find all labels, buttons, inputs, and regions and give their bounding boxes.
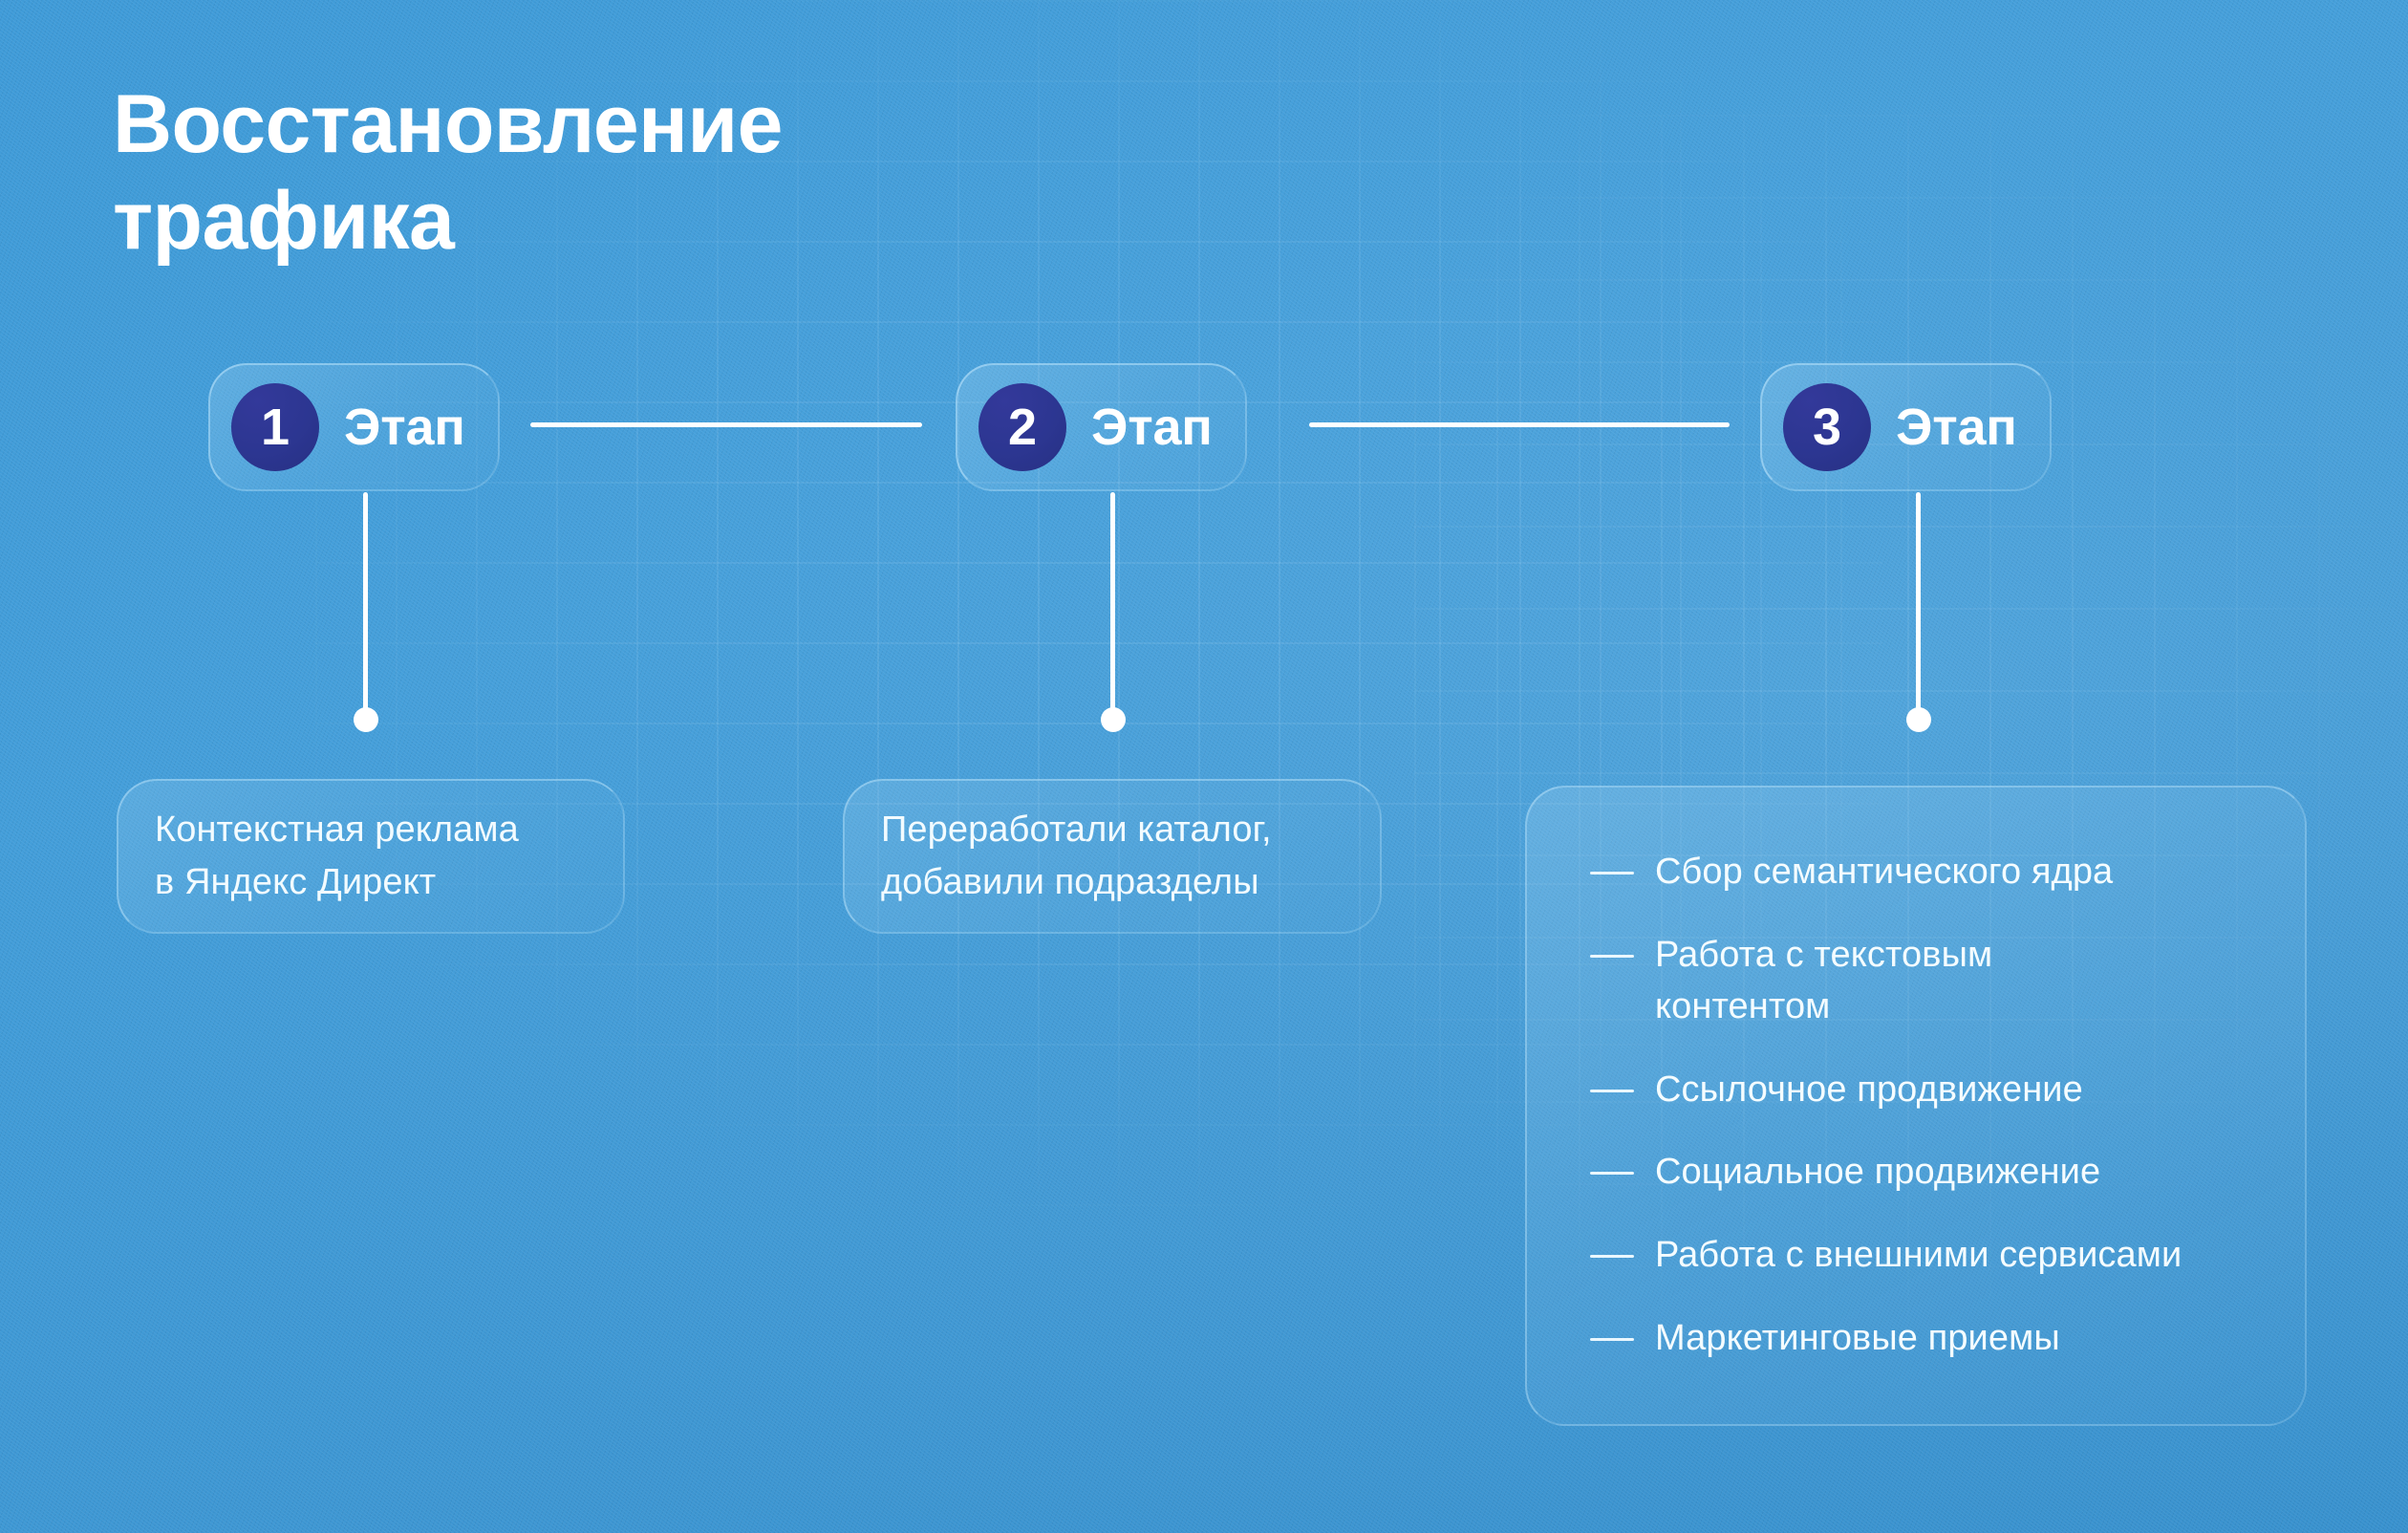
stage-card-2: Переработали каталог, добавили подраздел…: [843, 779, 1382, 934]
list-item: Социальное продвижение: [1590, 1147, 2267, 1198]
dash-bullet-icon: [1590, 955, 1634, 958]
dash-bullet-icon: [1590, 1338, 1634, 1341]
stage-number-2: 2: [978, 383, 1066, 471]
connector-dot-1: [354, 707, 378, 732]
connector-stage2-down: [1110, 492, 1115, 712]
stage-badge-3[interactable]: 3 Этап: [1760, 363, 2052, 491]
list-item: Работа с текстовым контентом: [1590, 930, 2267, 1033]
stage-card-1: Контекстная реклама в Яндекс Директ: [117, 779, 625, 934]
stage-card-2-text: Переработали каталог, добавили подраздел…: [845, 804, 1308, 909]
connector-stage1-stage2: [530, 422, 922, 427]
dash-bullet-icon: [1590, 872, 1634, 874]
dash-bullet-icon: [1590, 1090, 1634, 1092]
connector-stage1-down: [363, 492, 368, 712]
list-item-label: Работа с текстовым контентом: [1655, 930, 1992, 1033]
stage-badge-1[interactable]: 1 Этап: [208, 363, 500, 491]
stage-label-3: Этап: [1896, 398, 2017, 457]
stage-label-1: Этап: [344, 398, 465, 457]
stage-label-2: Этап: [1091, 398, 1213, 457]
list-item-label: Ссылочное продвижение: [1655, 1065, 2083, 1116]
list-item-label: Социальное продвижение: [1655, 1147, 2100, 1198]
stage-number-1: 1: [231, 383, 319, 471]
connector-stage2-stage3: [1309, 422, 1730, 427]
page-title: Восстановление трафика: [113, 76, 973, 270]
list-item: Работа с внешними сервисами: [1590, 1230, 2267, 1282]
stage-number-3: 3: [1783, 383, 1871, 471]
connector-stage3-down: [1916, 492, 1921, 712]
connector-dot-2: [1101, 707, 1126, 732]
list-item: Сбор семантического ядра: [1590, 847, 2267, 898]
stage-badge-2[interactable]: 2 Этап: [956, 363, 1247, 491]
slide-root: Восстановление трафика 1 Этап 2 Этап 3 Э…: [0, 0, 2408, 1533]
connector-dot-3: [1906, 707, 1931, 732]
list-item: Маркетинговые приемы: [1590, 1313, 2267, 1365]
dash-bullet-icon: [1590, 1172, 1634, 1175]
stage-card-1-text: Контекстная реклама в Яндекс Директ: [118, 804, 555, 909]
list-item-label: Работа с внешними сервисами: [1655, 1230, 2182, 1282]
stage-card-3: Сбор семантического ядра Работа с тексто…: [1525, 786, 2307, 1426]
dash-bullet-icon: [1590, 1255, 1634, 1258]
list-item-label: Сбор семантического ядра: [1655, 847, 2113, 898]
list-item: Ссылочное продвижение: [1590, 1065, 2267, 1116]
list-item-label: Маркетинговые приемы: [1655, 1313, 2060, 1365]
